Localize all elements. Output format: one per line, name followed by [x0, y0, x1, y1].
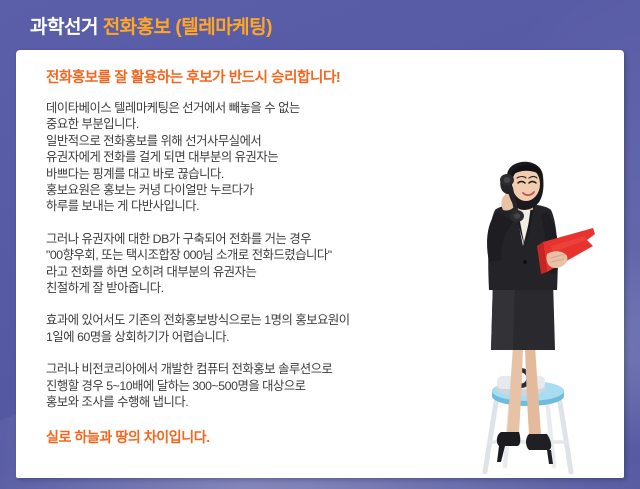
paragraph-3-line-1: 효과에 있어서도 기존의 전화홍보방식으로는 1명의 홍보요원이 — [46, 313, 350, 327]
paragraph-4: 그러나 비전코리아에서 개발한 컴퓨터 전화홍보 솔루션으로 진행할 경우 5~… — [46, 361, 446, 410]
lead-headline: 전화홍보를 잘 활용하는 후보가 반드시 승리합니다! — [46, 66, 446, 87]
slide-header: 과학선거 전화홍보 (텔레마케팅) — [0, 0, 640, 50]
right-hand — [546, 251, 567, 268]
paragraph-2-line-4: 친절하게 잘 받아줍니다. — [46, 281, 164, 295]
paragraph-1-line-1: 데이타베이스 텔레마케팅은 선거에서 빼놓을 수 없는 — [46, 101, 300, 115]
paragraph-2-line-2: "00향우회, 또는 택시조합장 000님 소개로 전화드렸습니다" — [46, 248, 332, 262]
paragraph-1-line-4: 유권자에게 전화를 걸게 되면 대부분의 유권자는 — [46, 150, 278, 164]
paragraph-1-line-5: 바쁘다는 핑계를 대고 바로 끊습니다. — [46, 167, 224, 181]
paragraph-1-line-7: 하루를 보내는 게 다반사입니다. — [46, 199, 199, 213]
paragraph-1-line-6: 홍보요원은 홍보는 커녕 다이얼만 누르다가 — [46, 183, 253, 197]
paragraph-3-line-2: 1일에 60명을 상회하기가 어렵습니다. — [46, 330, 229, 344]
closing-statement: 실로 하늘과 땅의 차이입니다. — [46, 427, 446, 447]
paragraph-1-line-2: 중요한 부분입니다. — [46, 117, 139, 131]
telemarketer-photo: telemarketer — [455, 150, 607, 478]
slide-title: 과학선거 전화홍보 (텔레마케팅) — [30, 12, 272, 39]
presentation-slide: 과학선거 전화홍보 (텔레마케팅) 전화홍보를 잘 활용하는 후보가 반드시 승… — [0, 0, 640, 489]
body-text-column: 전화홍보를 잘 활용하는 후보가 반드시 승리합니다! 데이타베이스 텔레마케팅… — [46, 66, 446, 447]
paragraph-2-line-1: 그러나 유권자에 대한 DB가 구축되어 전화를 거는 경우 — [46, 232, 311, 246]
paragraph-4-line-3: 홍보와 조사를 수행해 냅니다. — [46, 395, 188, 409]
paragraph-4-line-2: 진행할 경우 5~10배에 달하는 300~500명을 대상으로 — [46, 379, 306, 393]
paragraph-2-line-3: 라고 전화를 하면 오히려 대부분의 유권자는 — [46, 265, 256, 279]
paragraph-2: 그러나 유권자에 대한 DB가 구축되어 전화를 거는 경우 "00향우회, 또… — [46, 231, 446, 297]
paragraph-1: 데이타베이스 텔레마케팅은 선거에서 빼놓을 수 없는 중요한 부분입니다. 일… — [46, 100, 446, 215]
paragraph-4-line-1: 그러나 비전코리아에서 개발한 컴퓨터 전화홍보 솔루션으로 — [46, 362, 332, 376]
paragraph-3: 효과에 있어서도 기존의 전화홍보방식으로는 1명의 홍보요원이 1일에 60명… — [46, 312, 446, 345]
slide-title-sub: 전화홍보 (텔레마케팅) — [103, 17, 272, 38]
paragraph-1-line-3: 일반적으로 전화홍보를 위해 선거사무실에서 — [46, 134, 261, 148]
slide-title-main: 과학선거 — [30, 17, 98, 38]
